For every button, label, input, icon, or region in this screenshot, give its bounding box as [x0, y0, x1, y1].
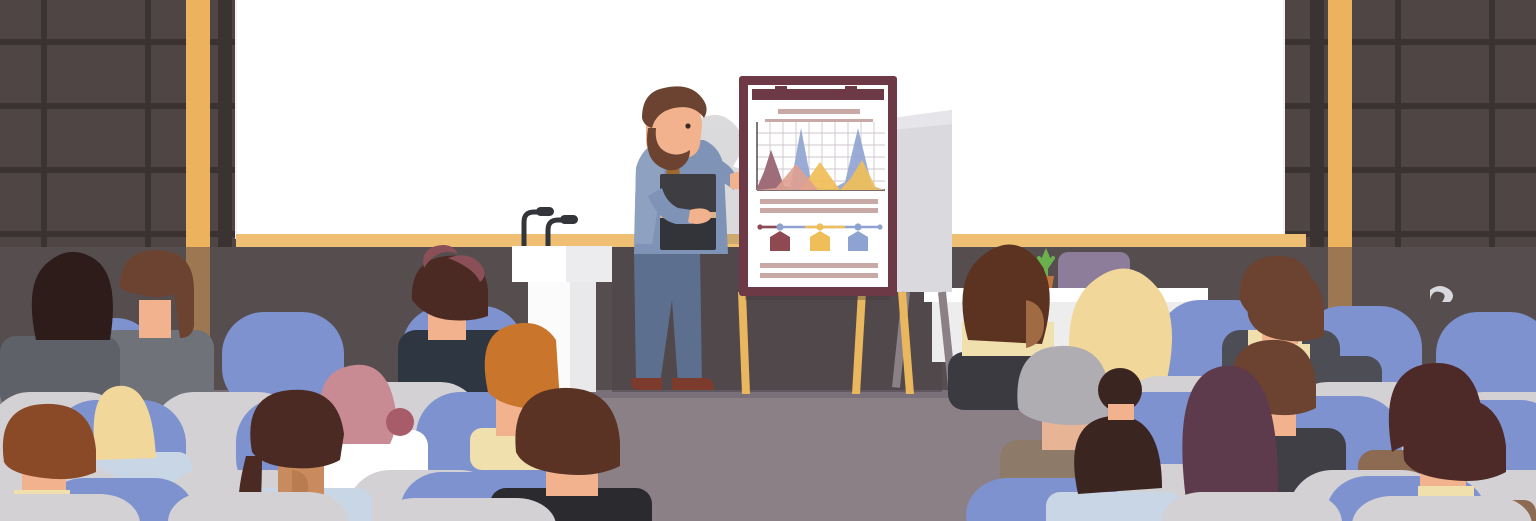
- flipchart-timeline: [757, 223, 882, 251]
- paper-line: [778, 109, 860, 114]
- paper-line: [760, 199, 878, 204]
- paper-line: [760, 273, 878, 278]
- shoe: [672, 378, 714, 390]
- paper-line: [760, 263, 878, 268]
- paper-line: [760, 208, 878, 213]
- conference-illustration: Business conference presentation in audi…: [0, 0, 1536, 521]
- flipchart-area-chart: [757, 122, 885, 190]
- shoe: [631, 378, 662, 390]
